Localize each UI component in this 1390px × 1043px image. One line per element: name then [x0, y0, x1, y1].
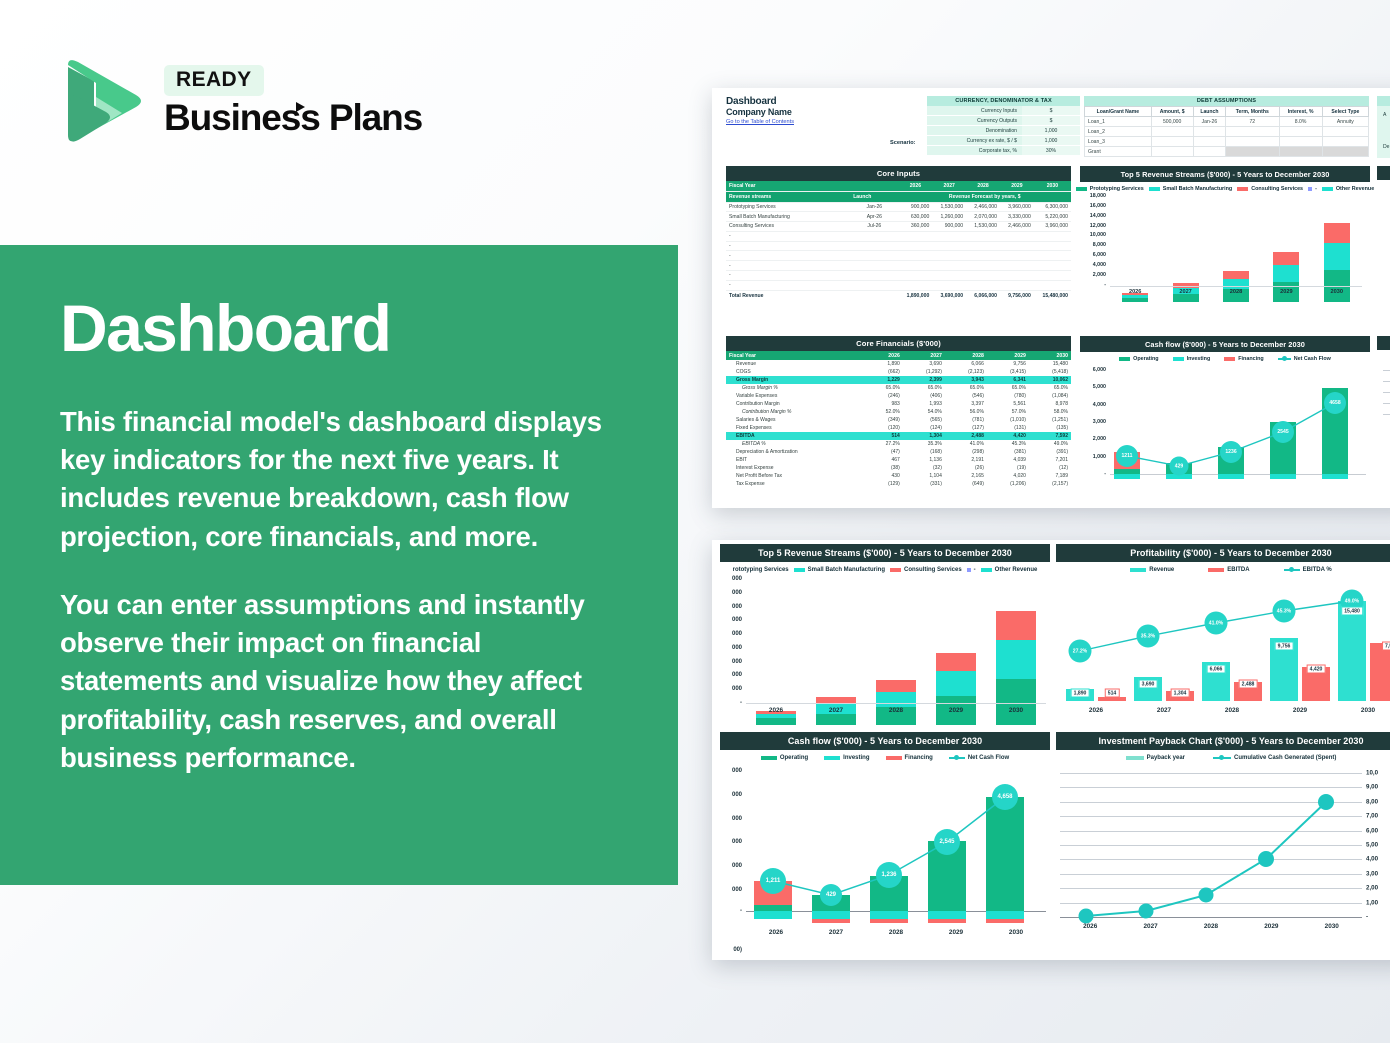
table-row: - [726, 270, 1071, 280]
fin-value: 6,341 [987, 376, 1029, 384]
table-row: Grant [1085, 147, 1369, 157]
brand-name: Business Plans [164, 99, 422, 137]
bubble-label: 429 [1170, 457, 1189, 476]
chart-stub-right-bottom [1377, 336, 1390, 506]
bar-group: 1,211 429 1,236 2,545 4,658 [746, 771, 1046, 911]
bar-investing-2027 [812, 911, 850, 919]
y-tick: - [1366, 914, 1368, 921]
currency-row-value[interactable]: $ [1022, 116, 1080, 125]
currency-row: Currency Outputs$ [927, 116, 1080, 126]
debt-col-header: Interest, % [1279, 107, 1322, 117]
legend-item: rototyping Services [733, 567, 789, 573]
fin-value: 65.0% [864, 384, 903, 392]
table-row: Fixed Expenses(120)(124)(127)(131)(135) [726, 424, 1071, 432]
play-triangle-logo-icon [60, 57, 146, 145]
y-tick: 000 [732, 576, 742, 582]
cumulative-cash-line [1060, 773, 1362, 917]
year-header: 2026 [864, 351, 903, 360]
bar-investing-2028 [1218, 474, 1244, 479]
core-inputs-table: Core Inputs Fiscal Year 2026 2027 2028 2… [726, 166, 1071, 300]
data-label: 15,480 [1341, 607, 1363, 616]
data-label: 9,756 [1275, 642, 1294, 651]
debt-cell[interactable] [1151, 127, 1193, 137]
fin-row-label: COGS [726, 368, 864, 376]
debt-cell[interactable]: Loan_1 [1085, 117, 1152, 127]
debt-col-header: Select Type [1322, 107, 1368, 117]
debt-cell[interactable]: Loan_3 [1085, 137, 1152, 147]
currency-row: Currency ex rate, $ / $1,000 [927, 136, 1080, 146]
stream-value[interactable]: 2,466,000 [966, 202, 1000, 212]
fin-value: 514 [864, 432, 903, 440]
table-row: Small Batch ManufacturingApr-26630,0001,… [726, 212, 1071, 222]
sheet-title: Dashboard [726, 96, 794, 107]
fin-value: 10,062 [1029, 376, 1071, 384]
fin-value: (781) [945, 416, 987, 424]
stream-value[interactable]: 630,000 [898, 212, 932, 222]
fin-value: 1,304 [903, 432, 945, 440]
debt-cell[interactable] [1193, 147, 1225, 157]
stream-name[interactable]: - [726, 280, 850, 290]
sheet-company-name: Company Name [726, 107, 794, 117]
x-tick: 2028 [1202, 707, 1262, 714]
debt-cell[interactable]: 72 [1226, 117, 1279, 127]
fin-row-label: Contribution Margin % [726, 408, 864, 416]
fin-row-label: Fixed Expenses [726, 424, 864, 432]
stream-value[interactable]: 5,220,000 [1034, 212, 1071, 222]
fin-value: (12) [1029, 464, 1071, 472]
stream-name[interactable]: Prototyping Services [726, 202, 850, 212]
fin-value: 6,066 [945, 360, 987, 368]
bar-financing-2029 [928, 919, 966, 923]
fin-value: (120) [864, 424, 903, 432]
debt-col-header: Loan/Grant Name [1085, 107, 1152, 117]
chart-legend: Prototyping Services Small Batch Manufac… [1080, 182, 1370, 194]
bubble-label: 2,545 [934, 829, 960, 855]
debt-cell[interactable]: Loan_2 [1085, 127, 1152, 137]
debt-col-header: Term, Months [1226, 107, 1279, 117]
currency-row-value[interactable]: 30% [1022, 146, 1080, 155]
table-row: EBIT4671,1362,1914,0397,201 [726, 456, 1071, 464]
stream-value[interactable]: 900,000 [898, 202, 932, 212]
stream-name[interactable]: Consulting Services [726, 222, 850, 232]
chart-legend: Operating Investing Financing Net Cash F… [720, 750, 1050, 763]
legend-item: Small Batch Manufacturing [1149, 186, 1233, 192]
total-revenue-value: 15,480,000 [1034, 290, 1071, 300]
fin-value: 65.0% [987, 384, 1029, 392]
stream-value[interactable]: 900,000 [932, 222, 966, 232]
stream-name[interactable]: - [726, 241, 850, 251]
y-tick: 000 [732, 590, 742, 596]
year-header: 2028 [945, 351, 987, 360]
y-tick: - [1104, 471, 1106, 477]
stream-value[interactable]: 3,960,000 [1000, 202, 1034, 212]
x-tick: 2027 [808, 929, 864, 936]
chart-revenue-streams-bottom: Top 5 Revenue Streams ($'000) - 5 Years … [720, 544, 1050, 739]
fin-value: (135) [1029, 424, 1071, 432]
sheet-header: Dashboard Company Name Go to the Table o… [726, 96, 794, 125]
chart-profitability: Profitability ($'000) - 5 Years to Decem… [1056, 544, 1390, 739]
x-tick: 2027 [1123, 923, 1179, 930]
total-revenue-value: 9,756,000 [1000, 290, 1034, 300]
debt-cell[interactable]: 500,000 [1151, 117, 1193, 127]
x-axis: 2026 2027 2028 2029 2030 [746, 929, 1046, 936]
table-row: Contribution Margin %52.0%54.0%56.0%57.0… [726, 408, 1071, 416]
bar-financing-2030 [986, 919, 1024, 923]
y-tick: 1,00 [1366, 899, 1378, 906]
fin-value: 3,943 [945, 376, 987, 384]
table-row: Loan_3 [1085, 137, 1369, 147]
debt-table-header-row: Loan/Grant Name Amount, $ Launch Term, M… [1085, 107, 1369, 117]
y-tick: 5,00 [1366, 842, 1378, 849]
legend-item: Investing [1173, 356, 1211, 362]
launch-label: Launch [850, 191, 898, 202]
debt-cell[interactable]: Annuity [1322, 117, 1368, 127]
x-tick: 2028 [1223, 289, 1249, 295]
x-tick: 2026 [1066, 707, 1126, 714]
x-tick: 2029 [1273, 289, 1299, 295]
page-title: Dashboard [60, 295, 618, 361]
y-tick: 3,000 [1093, 419, 1106, 425]
fin-value: (662) [864, 368, 903, 376]
fin-value: 15,480 [1029, 360, 1071, 368]
fin-value: 4,420 [987, 432, 1029, 440]
working-capital-line-2: De [1383, 144, 1390, 150]
fin-row-label: Gross Margin [726, 376, 864, 384]
bubble-label: 4658 [1324, 392, 1346, 414]
table-row: COGS(662)(1,292)(2,123)(3,415)(5,418) [726, 368, 1071, 376]
intro-panel: Dashboard This financial model's dashboa… [0, 245, 678, 885]
fin-value: 3,397 [945, 400, 987, 408]
chart-plot-area: 000 000 000 000 000 000 - 00) [720, 763, 1050, 941]
fin-value: 7,189 [1029, 472, 1071, 480]
debt-cell[interactable]: Jan-26 [1193, 117, 1225, 127]
x-axis: 2026 2027 2028 2029 2030 [1062, 707, 1390, 714]
fin-value: 3,690 [903, 360, 945, 368]
x-tick: 2027 [1134, 707, 1194, 714]
fin-row-label: Net Profit Before Tax [726, 472, 864, 480]
core-inputs-title: Core Inputs [726, 166, 1071, 181]
fin-value: 1,136 [903, 456, 945, 464]
brand-accent-triangle-icon [296, 102, 305, 112]
fin-row-label: Salaries & Wages [726, 416, 864, 424]
data-label: 4,420 [1307, 665, 1326, 674]
y-tick: - [1104, 282, 1106, 288]
working-capital-title: WOR [1377, 96, 1390, 106]
legend-item: Other Revenue [981, 567, 1038, 573]
y-axis: 6,000 5,000 4,000 3,000 2,000 1,000 - [1080, 370, 1106, 474]
fin-value: (5,418) [1029, 368, 1071, 376]
y-tick: 4,00 [1366, 856, 1378, 863]
stream-value[interactable]: 1,530,000 [966, 222, 1000, 232]
chart-legend: Revenue EBITDA EBITDA % [1056, 562, 1390, 575]
data-label: 2,488 [1239, 680, 1258, 689]
chart-title: Profitability ($'000) - 5 Years to Decem… [1056, 544, 1390, 562]
fin-row-label: Gross Margin % [726, 384, 864, 392]
x-tick: 2029 [928, 929, 984, 936]
currency-row-label: Currency Inputs [927, 106, 1022, 115]
debt-cell[interactable] [1226, 137, 1279, 147]
y-tick: 4,000 [1093, 262, 1106, 268]
chart-cash-flow-bottom: Cash flow ($'000) - 5 Years to December … [720, 732, 1050, 954]
legend-item: Net Cash Flow [1278, 356, 1331, 362]
bubble-label: 1211 [1116, 445, 1138, 467]
working-capital-table-partial: WOR A De [1377, 96, 1390, 158]
bubble-label: 1236 [1220, 441, 1242, 463]
fin-value: 1,229 [864, 376, 903, 384]
x-tick: 2029 [1243, 923, 1299, 930]
currency-row-value[interactable]: $ [1022, 106, 1080, 115]
x-tick: 2029 [1270, 707, 1330, 714]
fin-value: (1,251) [1029, 416, 1071, 424]
fin-value: 1,993 [903, 400, 945, 408]
debt-cell[interactable] [1151, 137, 1193, 147]
year-header: 2027 [932, 181, 966, 191]
total-revenue-value: 6,066,000 [966, 290, 1000, 300]
currency-row-label: Denomination [927, 126, 1022, 135]
fin-value: 65.0% [903, 384, 945, 392]
fin-value: (38) [864, 464, 903, 472]
table-row: Gross Margin %65.0%65.0%65.0%65.0%65.0% [726, 384, 1071, 392]
debt-cell[interactable] [1279, 127, 1322, 137]
legend-item: Prototyping Services [1076, 186, 1144, 192]
fin-value: 49.0% [1029, 440, 1071, 448]
currency-row-label: Currency Outputs [927, 116, 1022, 125]
chart-plot-area: 18,000 16,000 14,000 12,000 10,000 8,000… [1080, 194, 1366, 302]
currency-row-value[interactable]: 1,000 [1022, 136, 1080, 145]
y-tick: 1,000 [1093, 454, 1106, 460]
bubble-label: 1,211 [760, 868, 786, 894]
currency-row: Corporate tax, %30% [927, 146, 1080, 156]
y-tick: 3,00 [1366, 870, 1378, 877]
x-tick: 2028 [1183, 923, 1239, 930]
chart-title: Cash flow ($'000) - 5 Years to December … [1080, 336, 1370, 352]
fin-value: (26) [945, 464, 987, 472]
chart-plot-area: 10,0 9,00 8,00 7,00 6,00 5,00 4,00 3,00 … [1056, 763, 1390, 941]
total-revenue-value: 3,690,000 [932, 290, 966, 300]
fin-value: 65.0% [1029, 384, 1071, 392]
legend-item: Financing [886, 755, 933, 761]
currency-row: Currency Inputs$ [927, 106, 1080, 116]
debt-cell[interactable] [1279, 137, 1322, 147]
debt-cell[interactable] [1322, 137, 1368, 147]
y-tick: 2,000 [1093, 436, 1106, 442]
chart-title: Top 5 Revenue Streams ($'000) - 5 Years … [720, 544, 1050, 562]
y-tick: 9,00 [1366, 784, 1378, 791]
fin-value: 57.0% [987, 408, 1029, 416]
stream-value[interactable]: 1,530,000 [932, 202, 966, 212]
stream-value[interactable]: 2,070,000 [966, 212, 1000, 222]
legend-item: Operating [1119, 356, 1158, 362]
y-tick: 6,000 [1093, 252, 1106, 258]
y-tick: 16,000 [1090, 203, 1106, 209]
bubble-label: 429 [820, 884, 842, 906]
chart-legend: rototyping Services Small Batch Manufact… [720, 562, 1050, 575]
x-tick: 2026 [1122, 289, 1148, 295]
brand-ready-pill: READY [164, 65, 264, 96]
year-header: 2030 [1034, 181, 1071, 191]
debt-cell[interactable]: Grant [1085, 147, 1152, 157]
x-tick: 2030 [1324, 289, 1350, 295]
stream-value[interactable]: 3,960,000 [1034, 222, 1071, 232]
year-header: 2029 [1000, 181, 1034, 191]
data-label: 3,690 [1139, 680, 1158, 689]
legend-item: - [967, 567, 976, 573]
fin-value: 2,191 [945, 456, 987, 464]
bar-financing-2027 [812, 919, 850, 923]
stream-value[interactable]: 360,000 [898, 222, 932, 232]
debt-col-header: Launch [1193, 107, 1225, 117]
y-axis: 10,0 9,00 8,00 7,00 6,00 5,00 4,00 3,00 … [1362, 773, 1390, 917]
y-axis: 000 000 000 000 000 000 000 000 000 - [720, 579, 742, 703]
fin-value: (127) [945, 424, 987, 432]
bubble-label: 2545 [1272, 421, 1294, 443]
bar-investing-2029 [928, 911, 966, 919]
fin-value: (381) [987, 448, 1029, 456]
fin-value: 467 [864, 456, 903, 464]
bubble-label: 35.3% [1137, 625, 1160, 648]
chart-title: Investment Payback Chart ($'000) - 5 Yea… [1056, 732, 1390, 750]
brand-logo: READY Business Plans [60, 57, 422, 145]
fin-row-label: Contribution Margin [726, 400, 864, 408]
fin-value: 56.0% [945, 408, 987, 416]
chart-title: Cash flow ($'000) - 5 Years to December … [720, 732, 1050, 750]
y-tick: 10,000 [1090, 232, 1106, 238]
core-financials-header-row: Fiscal Year 2026 2027 2028 2029 2030 [726, 351, 1071, 360]
x-axis: 2026 2027 2028 2029 2030 [1110, 289, 1362, 295]
bar-investing-2030 [986, 911, 1024, 919]
debt-cell[interactable]: 8.0% [1279, 117, 1322, 127]
currency-row: Denomination1,000 [927, 126, 1080, 136]
y-tick: 5,000 [1093, 384, 1106, 390]
data-label: 6,066 [1207, 665, 1226, 674]
stream-value[interactable]: 2,466,000 [1000, 222, 1034, 232]
y-tick: 6,000 [1093, 367, 1106, 373]
forecast-label: Revenue Forecast by years, $ [898, 191, 1071, 202]
fin-value: 35.3% [903, 440, 945, 448]
debt-cell-disabled [1226, 147, 1279, 157]
fin-value: 2,488 [945, 432, 987, 440]
stream-name[interactable]: - [726, 261, 850, 271]
fin-value: 2,399 [903, 376, 945, 384]
chart-revenue-streams-top: Top 5 Revenue Streams ($'000) - 5 Years … [1080, 166, 1370, 326]
y-tick: 000 [732, 604, 742, 610]
legend-item: Revenue [1130, 567, 1174, 573]
fin-value: (1,206) [987, 480, 1029, 488]
debt-cell[interactable] [1226, 127, 1279, 137]
y-tick: 000 [732, 617, 742, 623]
stream-launch[interactable]: Apr-26 [850, 212, 898, 222]
fin-value: 41.0% [945, 440, 987, 448]
working-capital-line-1: A [1383, 112, 1386, 118]
debt-cell[interactable] [1193, 127, 1225, 137]
y-tick: 4,000 [1093, 402, 1106, 408]
currency-row-label: Corporate tax, % [927, 146, 1022, 155]
x-tick: 2027 [816, 707, 856, 714]
bar-group: 27.2% 35.3% 41.0% 45.3% 49.0% 1,890 514 … [1062, 579, 1390, 701]
y-tick: 14,000 [1090, 213, 1106, 219]
currency-table-title: CURRENCY, DENOMINATOR & TAX [927, 96, 1080, 106]
table-row: EBITDA %27.2%35.3%41.0%45.3%49.0% [726, 440, 1071, 448]
stream-name[interactable]: Small Batch Manufacturing [726, 212, 850, 222]
data-label: 1,890 [1071, 689, 1090, 698]
y-tick: 12,000 [1090, 223, 1106, 229]
stream-launch[interactable]: Jan-26 [850, 202, 898, 212]
fin-value: 9,756 [987, 360, 1029, 368]
y-tick: 2,000 [1093, 272, 1106, 278]
core-inputs-year-header: Fiscal Year 2026 2027 2028 2029 2030 [726, 181, 1071, 191]
x-tick: 2030 [1338, 707, 1390, 714]
table-row: Tax Expense(129)(331)(649)(1,206)(2,157) [726, 480, 1071, 488]
fin-value: (1,010) [987, 416, 1029, 424]
fin-value: 27.2% [864, 440, 903, 448]
x-tick: 2030 [996, 707, 1036, 714]
total-revenue-row: Total Revenue 1,890,000 3,690,000 6,066,… [726, 290, 1071, 300]
year-header: 2028 [966, 181, 1000, 191]
table-row: Loan_2 [1085, 127, 1369, 137]
fin-value: (19) [987, 464, 1029, 472]
currency-row-value[interactable]: 1,000 [1022, 126, 1080, 135]
scenario-label: Scenario: [890, 140, 916, 146]
stream-value[interactable]: 1,260,000 [932, 212, 966, 222]
stream-name[interactable]: - [726, 251, 850, 261]
year-header: 2026 [898, 181, 932, 191]
y-axis: 000 000 000 000 000 000 - 00) [720, 771, 742, 911]
table-row: - [726, 241, 1071, 251]
legend-item: Investing [824, 755, 869, 761]
fiscal-year-label: Fiscal Year [726, 181, 850, 191]
fin-value: (2,157) [1029, 480, 1071, 488]
fin-value: 4,020 [987, 472, 1029, 480]
y-tick: 18,000 [1090, 193, 1106, 199]
year-header: 2030 [1029, 351, 1071, 360]
chart-investment-payback: Investment Payback Chart ($'000) - 5 Yea… [1056, 732, 1390, 954]
table-row: Variable Expenses(246)(406)(546)(780)(1,… [726, 392, 1071, 400]
debt-cell[interactable] [1322, 127, 1368, 137]
fin-value: (406) [903, 392, 945, 400]
y-axis: 18,000 16,000 14,000 12,000 10,000 8,000… [1080, 194, 1106, 286]
bubble-label: 4,658 [992, 784, 1018, 810]
debt-assumptions-table: DEBT ASSUMPTIONS Loan/Grant Name Amount,… [1084, 96, 1369, 157]
fin-row-label: EBIT [726, 456, 864, 464]
debt-cell[interactable] [1193, 137, 1225, 147]
x-tick: 2026 [1062, 923, 1118, 930]
stream-launch[interactable]: Jul-26 [850, 222, 898, 232]
x-axis: 2026 2027 2028 2029 2030 [746, 707, 1046, 714]
fin-value: 1,104 [903, 472, 945, 480]
x-axis: 2026 2027 2028 2029 2030 [1060, 923, 1362, 930]
table-row: Depreciation & Amortization(47)(168)(298… [726, 448, 1071, 456]
y-tick: 000 [732, 768, 742, 774]
chart-legend: Payback year Cumulative Cash Generated (… [1056, 750, 1390, 763]
debt-cell-disabled [1279, 147, 1322, 157]
stream-name[interactable]: - [726, 231, 850, 241]
y-tick: 6,00 [1366, 827, 1378, 834]
stream-value[interactable]: 6,300,000 [1034, 202, 1071, 212]
y-tick: 000 [732, 686, 742, 692]
debt-cell[interactable] [1151, 147, 1193, 157]
bar-financing-2028 [870, 919, 908, 923]
stream-name[interactable]: - [726, 270, 850, 280]
stream-value[interactable]: 3,330,000 [1000, 212, 1034, 222]
table-row: Gross Margin1,2292,3993,9436,34110,062 [726, 376, 1071, 384]
bar-investing-2026 [754, 911, 792, 919]
legend-item: - [1308, 186, 1317, 192]
fin-value: (649) [945, 480, 987, 488]
fin-value: 4,039 [987, 456, 1029, 464]
table-of-contents-link[interactable]: Go to the Table of Contents [726, 119, 794, 125]
core-inputs-sub-header: Revenue streams Launch Revenue Forecast … [726, 191, 1071, 202]
year-header: 2027 [903, 351, 945, 360]
